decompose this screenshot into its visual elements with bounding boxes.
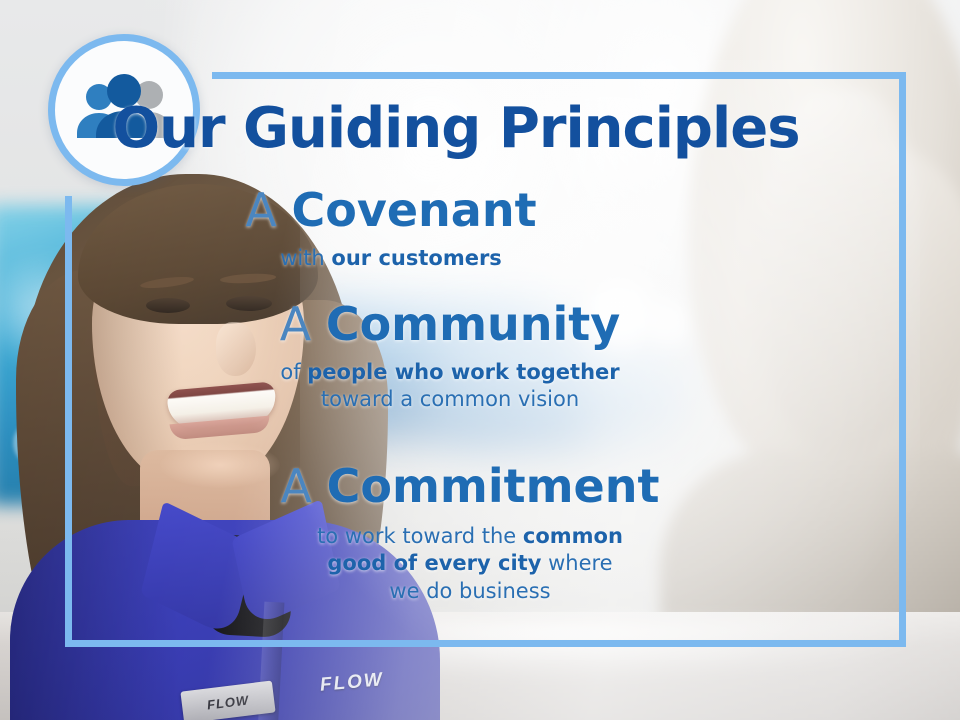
community-detail-line2: toward a common vision [0, 386, 900, 414]
commitment-detail-line1: to work toward the common [0, 523, 940, 551]
principle-community: A Community of people who work together … [0, 300, 900, 414]
principle-community-keyword: Community [326, 297, 620, 351]
principle-community-detail: of people who work together toward a com… [0, 359, 900, 414]
community-detail-plain: of [280, 360, 307, 384]
principle-commitment-detail: to work toward the common good of every … [0, 523, 940, 606]
commitment-detail-bold: common [523, 524, 623, 548]
community-detail-line1: of people who work together [0, 359, 900, 387]
covenant-detail-plain: with [280, 246, 331, 270]
principle-covenant-keyword: Covenant [292, 183, 537, 237]
principle-covenant-title: A Covenant [0, 186, 782, 235]
banner-canvas: FLOW FLOW Our [0, 0, 960, 720]
principle-community-title: A Community [0, 300, 900, 349]
principle-covenant-article: A [245, 183, 291, 237]
commitment-detail-line3: we do business [0, 578, 940, 606]
principle-covenant-detail: with our customers [0, 245, 782, 273]
page-title: Our Guiding Principles [0, 96, 912, 161]
principle-commitment-article: A [281, 459, 327, 513]
text-overlay: Our Guiding Principles A Covenant with o… [0, 0, 960, 720]
commitment-detail-plain: to work toward the [317, 524, 523, 548]
principle-commitment: A Commitment to work toward the common g… [0, 462, 940, 606]
principle-community-article: A [280, 297, 326, 351]
principle-commitment-keyword: Commitment [327, 459, 660, 513]
community-detail-bold: people who work together [307, 360, 619, 384]
covenant-detail-bold: our customers [331, 246, 501, 270]
commitment-line2-bold: good of every city [327, 551, 541, 575]
principle-covenant: A Covenant with our customers [0, 186, 782, 272]
commitment-detail-line2: good of every city where [0, 550, 940, 578]
principle-commitment-title: A Commitment [0, 462, 940, 511]
commitment-line2-plain: where [541, 551, 612, 575]
